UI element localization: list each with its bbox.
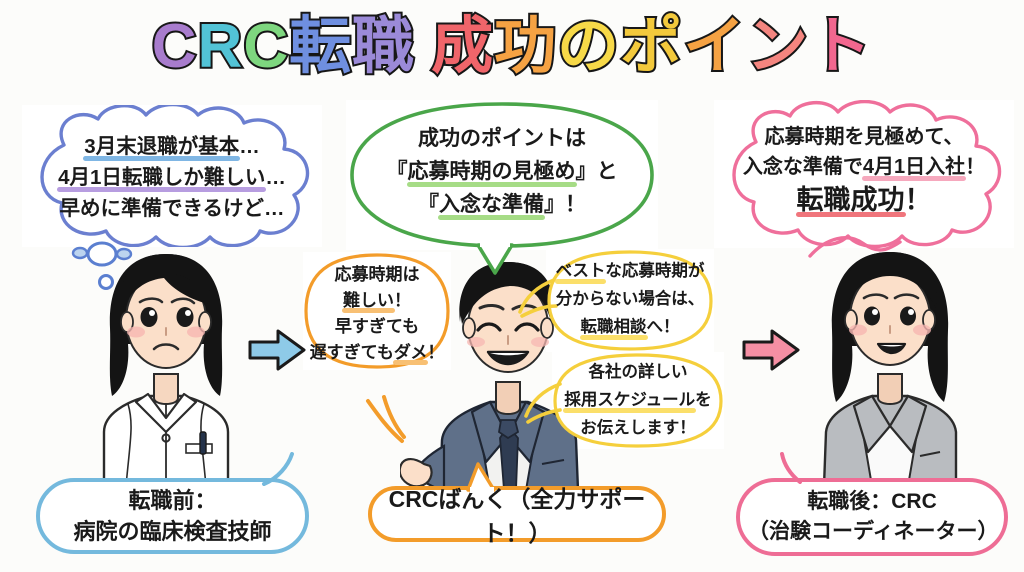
- infographic-canvas: CRC転職 成功のポイント 3月末退職が基本… 4月1日転職しか難しい… 早めに…: [0, 0, 1024, 572]
- title-char-3: 転: [289, 8, 352, 86]
- speech-bubble-timing-difficult: 応募時期は 難しい！ 早すぎても 遅すぎてもダメ！: [303, 252, 451, 370]
- orange-line-3: 早すぎても: [303, 314, 451, 340]
- speech-bubble-key-points: 成功のポイントは 『応募時期の見極め』と 『入念な準備』！: [346, 100, 658, 250]
- thought-bubble-after-text: 応募時期を見極めて、 入念な準備で4月1日入社！ 転職成功！: [714, 100, 1014, 218]
- before-line-1-highlight: 3月末退職が基本: [84, 131, 239, 162]
- speech-tail-center-top: [470, 243, 520, 277]
- thought-bubble-after: 応募時期を見極めて、 入念な準備で4月1日入社！ 転職成功！: [714, 100, 1014, 248]
- label-tail-left: [258, 452, 306, 486]
- key-points-line-1: 成功のポイントは: [346, 122, 658, 155]
- orange-line-1: 応募時期は: [303, 262, 451, 288]
- yellow2-line-1: 各社の詳しい: [552, 358, 724, 386]
- label-before-line-1: 転職前：: [73, 485, 271, 516]
- thought-tail-left: [62, 236, 172, 296]
- yellow2-line-3: お伝えします！: [552, 414, 724, 442]
- yellow1-line-1-highlight: ベスト: [556, 257, 606, 285]
- title-char-11: ト: [809, 8, 872, 86]
- title-char-2: C: [243, 8, 289, 86]
- orange-line-2-highlight: 難しい: [343, 288, 394, 314]
- title-char-9: イ: [683, 8, 746, 86]
- yellow1-line-3-highlight: 転職相談: [581, 313, 647, 341]
- title-spacer: [415, 8, 431, 86]
- thought-tail-right: [800, 236, 910, 286]
- before-line-3: 早めに準備できるけど…: [22, 193, 322, 224]
- title-char-6: 功: [494, 8, 557, 86]
- before-line-2-highlight: 4月1日転職しか難しい: [58, 162, 265, 193]
- label-after-line-1: 転職後：CRC: [748, 487, 996, 517]
- label-after-job: 転職後：CRC （治験コーディネーター）: [736, 478, 1008, 556]
- label-before-job: 転職前： 病院の臨床検査技師: [36, 478, 309, 554]
- arrow-left-to-center: [246, 326, 308, 374]
- after-line-3-highlight: 転職成功: [797, 182, 905, 218]
- yellow1-line-2: 分からない場合は、: [546, 285, 714, 313]
- arrow-center-to-right: [740, 326, 802, 374]
- timing-difficult-text: 応募時期は 難しい！ 早すぎても 遅すぎてもダメ！: [303, 252, 451, 366]
- title-char-8: ポ: [620, 8, 683, 86]
- page-title: CRC転職 成功のポイント: [0, 8, 1024, 86]
- title-char-0: C: [152, 8, 198, 86]
- label-crc-bank: CRCばんく（全力サポート！）: [368, 486, 666, 542]
- speech-tail-orange: [362, 395, 422, 449]
- schedule-text: 各社の詳しい 採用スケジュールを お伝えします！: [552, 352, 724, 442]
- title-char-1: R: [198, 8, 244, 86]
- consult-text: ベストな応募時期が 分からない場合は、 転職相談へ！: [546, 249, 714, 341]
- label-before-line-2: 病院の臨床検査技師: [73, 516, 271, 547]
- title-char-7: の: [557, 8, 620, 86]
- title-char-4: 職: [352, 8, 415, 86]
- yellow2-line-2-highlight: 採用スケジュール: [564, 386, 695, 414]
- title-char-10: ン: [746, 8, 809, 86]
- title-char-5: 成: [431, 8, 494, 86]
- label-tail-right: [770, 452, 818, 484]
- speech-bubble-schedule: 各社の詳しい 採用スケジュールを お伝えします！: [552, 352, 724, 449]
- orange-line-4-highlight: ダメ: [394, 340, 428, 366]
- thought-bubble-before: 3月末退職が基本… 4月1日転職しか難しい… 早めに準備できるけど…: [22, 105, 322, 247]
- key-points-line-2-highlight: 応募時期の見極め: [408, 155, 576, 188]
- after-line-2-highlight: 4月1日入社: [863, 152, 965, 182]
- thought-bubble-before-text: 3月末退職が基本… 4月1日転職しか難しい… 早めに準備できるけど…: [22, 105, 322, 224]
- key-points-line-3-highlight: 入念な準備: [439, 188, 544, 221]
- label-tail-center: [460, 462, 504, 494]
- speech-bubble-consult: ベストな応募時期が 分からない場合は、 転職相談へ！: [546, 249, 714, 352]
- label-after-line-2: （治験コーディネーター）: [748, 517, 996, 547]
- key-points-text: 成功のポイントは 『応募時期の見極め』と 『入念な準備』！: [346, 100, 658, 221]
- after-line-1: 応募時期を見極めて、: [714, 122, 1014, 152]
- label-crc-bank-text: CRCばんく（全力サポート！）: [372, 480, 662, 548]
